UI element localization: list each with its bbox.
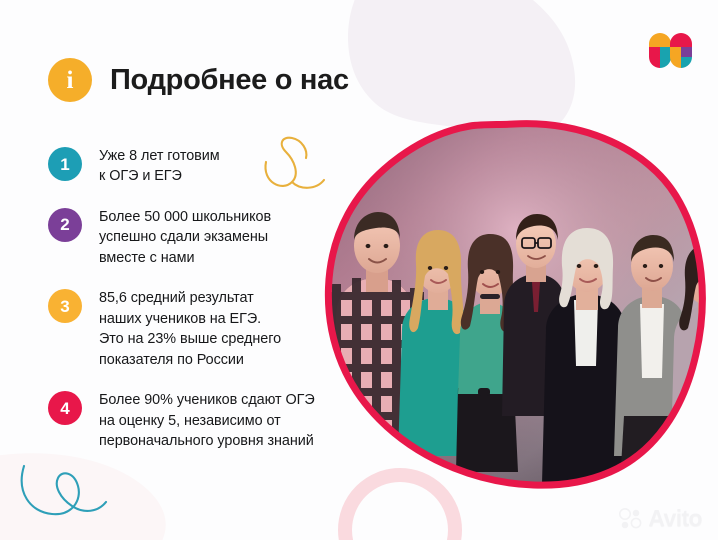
slide-root: i Подробнее о нас 1 Уже 8 лет готовим к … xyxy=(0,0,718,540)
logo-left-shape xyxy=(649,33,671,68)
fact-text-4: Более 90% учеников сдают ОГЭ на оценку 5… xyxy=(99,390,315,451)
logo-right-shape xyxy=(670,33,692,68)
fact-line: показателя по России xyxy=(99,350,281,370)
teal-squiggle xyxy=(22,466,106,514)
brand-logo xyxy=(646,30,696,70)
fact-text-2: Более 50 000 школьников успешно сдали эк… xyxy=(99,207,271,268)
list-item: 3 85,6 средний результат наших учеников … xyxy=(48,288,348,370)
fact-line: Это на 23% выше среднего xyxy=(99,329,281,349)
fact-number-badge-2: 2 xyxy=(48,208,82,242)
avito-watermark: Avito xyxy=(618,507,702,530)
info-icon-glyph: i xyxy=(67,68,74,93)
fact-number-badge-1: 1 xyxy=(48,147,82,181)
fact-line: Более 90% учеников сдают ОГЭ xyxy=(99,390,315,410)
facts-list: 1 Уже 8 лет готовим к ОГЭ и ЕГЭ 2 Более … xyxy=(48,146,348,471)
avito-logo-icon xyxy=(618,508,644,530)
fact-line: первоначального уровня знаний xyxy=(99,431,315,451)
fact-text-1: Уже 8 лет готовим к ОГЭ и ЕГЭ xyxy=(99,146,220,187)
team-group-photo xyxy=(318,116,714,496)
fact-number-badge-3: 3 xyxy=(48,289,82,323)
list-item: 1 Уже 8 лет готовим к ОГЭ и ЕГЭ xyxy=(48,146,348,187)
fact-line: на оценку 5, независимо от xyxy=(99,411,315,431)
fact-line: Уже 8 лет готовим xyxy=(99,146,220,166)
avito-watermark-text: Avito xyxy=(648,507,702,530)
fact-line: вместе с нами xyxy=(99,248,271,268)
fact-number-badge-4: 4 xyxy=(48,391,82,425)
fact-line: к ОГЭ и ЕГЭ xyxy=(99,166,220,186)
list-item: 2 Более 50 000 школьников успешно сдали … xyxy=(48,207,348,268)
page-title: Подробнее о нас xyxy=(110,64,349,97)
fact-text-3: 85,6 средний результат наших учеников на… xyxy=(99,288,281,370)
fact-line: наших учеников на ЕГЭ. xyxy=(99,309,281,329)
fact-line: успешно сдали экзамены xyxy=(99,227,271,247)
fact-line: Более 50 000 школьников xyxy=(99,207,271,227)
page-header: i Подробнее о нас xyxy=(48,58,349,102)
info-icon: i xyxy=(48,58,92,102)
list-item: 4 Более 90% учеников сдают ОГЭ на оценку… xyxy=(48,390,348,451)
fact-line: 85,6 средний результат xyxy=(99,288,281,308)
